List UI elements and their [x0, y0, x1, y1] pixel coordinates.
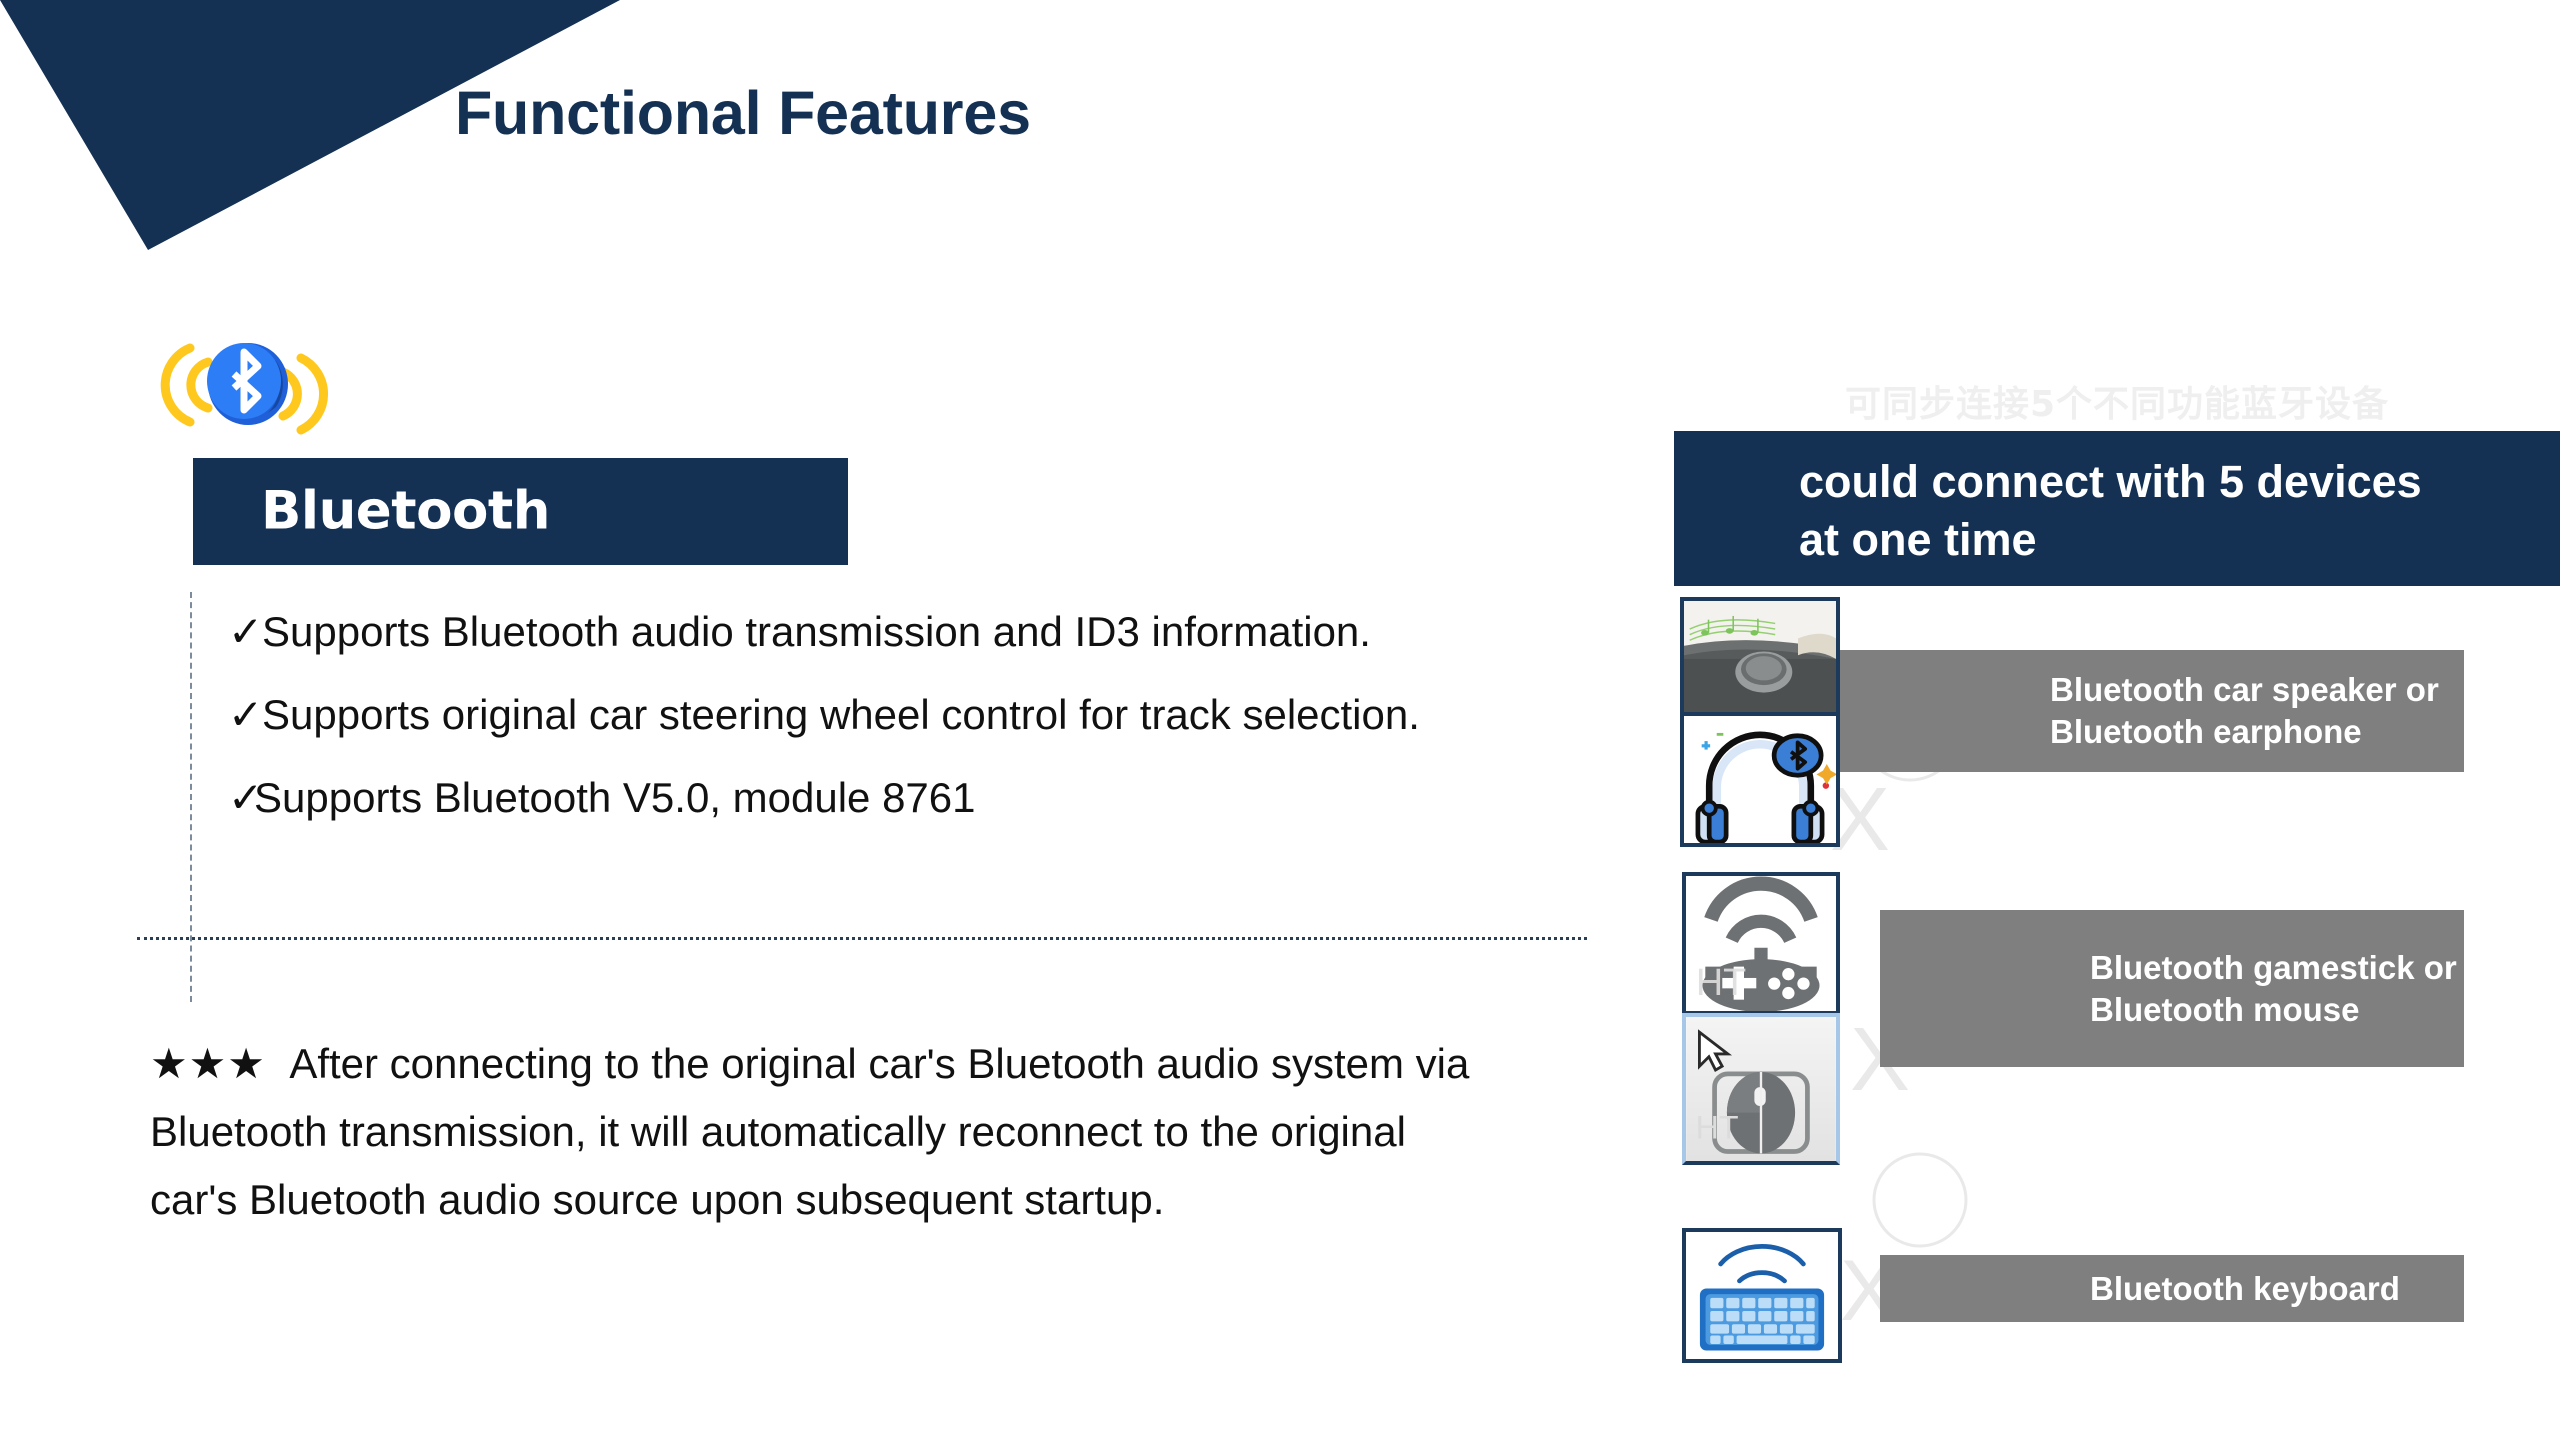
svg-text:HT: HT: [1696, 1109, 1739, 1145]
list-item-label: Supports Bluetooth audio transmission an…: [262, 608, 1371, 655]
feature-bullet-list: ✓Supports Bluetooth audio transmission a…: [228, 608, 1628, 857]
device-row-bar-2: Bluetooth gamestick or Bluetooth mouse: [1880, 910, 2464, 1067]
slide-canvas: Functional Features Bluetooth ✓Supports …: [0, 0, 2560, 1440]
bluetooth-headphone-icon: [1680, 712, 1840, 847]
device-row-label-2: Bluetooth gamestick or Bluetooth mouse: [1880, 947, 2464, 1030]
car-speaker-photo: [1680, 597, 1840, 719]
ghost-chinese-caption: 可同步连接5个不同功能蓝牙设备: [1845, 375, 2389, 427]
device-row-bar-1: Bluetooth car speaker or Bluetooth earph…: [1840, 650, 2464, 772]
vertical-dashed-guide: [190, 592, 192, 1002]
svg-text:HT: HT: [1696, 962, 1746, 1004]
bluetooth-gamepad-icon: HT: [1682, 872, 1840, 1015]
list-item-label: Supports Bluetooth V5.0, module 8761: [254, 774, 976, 821]
list-item: ✓Supports Bluetooth V5.0, module 8761: [228, 774, 1628, 821]
bluetooth-mouse-icon: HT: [1682, 1013, 1840, 1165]
right-panel-header: could connect with 5 devices at one time: [1674, 431, 2560, 586]
check-icon: ✓: [228, 691, 262, 738]
device-row-label-1: Bluetooth car speaker or Bluetooth earph…: [1840, 669, 2464, 752]
list-item: ✓Supports Bluetooth audio transmission a…: [228, 608, 1628, 655]
bluetooth-section-bar: Bluetooth: [193, 458, 848, 565]
horizontal-dotted-divider: [137, 937, 1587, 940]
device-row-bar-3: Bluetooth keyboard: [1880, 1255, 2464, 1322]
page-title: Functional Features: [455, 78, 1031, 148]
footnote-text: After connecting to the original car's B…: [150, 1040, 1469, 1223]
check-icon: ✓: [228, 774, 254, 821]
check-icon: ✓: [228, 608, 262, 655]
bluetooth-wireless-icon: [160, 330, 330, 440]
bluetooth-section-label: Bluetooth: [261, 480, 550, 541]
stars-icon: ★★★: [150, 1040, 266, 1087]
list-item: ✓Supports original car steering wheel co…: [228, 691, 1628, 738]
footnote: ★★★ After connecting to the original car…: [150, 1030, 1480, 1234]
right-panel-header-label: could connect with 5 devices at one time: [1799, 453, 2439, 568]
list-item-label: Supports original car steering wheel con…: [262, 691, 1420, 738]
device-row-label-3: Bluetooth keyboard: [1880, 1268, 2400, 1310]
bluetooth-keyboard-icon: [1682, 1228, 1842, 1363]
